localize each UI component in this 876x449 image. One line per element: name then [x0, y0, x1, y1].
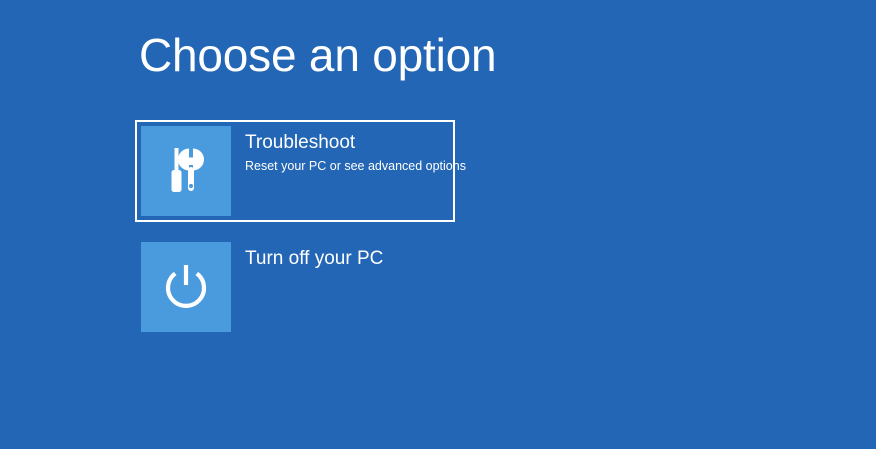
- option-turn-off-pc[interactable]: Turn off your PC: [135, 236, 455, 338]
- option-subtitle: Reset your PC or see advanced options: [245, 159, 449, 174]
- option-icon-tile: [141, 126, 231, 216]
- option-title: Turn off your PC: [245, 248, 449, 270]
- option-title: Troubleshoot: [245, 132, 449, 154]
- option-text-block: Turn off your PC: [231, 242, 449, 270]
- power-icon: [160, 261, 212, 313]
- option-text-block: Troubleshoot Reset your PC or see advanc…: [231, 126, 449, 174]
- screwdriver-wrench-icon: [164, 145, 208, 197]
- option-icon-tile: [141, 242, 231, 332]
- page-title: Choose an option: [139, 32, 496, 78]
- options-list: Troubleshoot Reset your PC or see advanc…: [135, 120, 465, 352]
- recovery-screen: Choose an option: [0, 0, 876, 449]
- option-troubleshoot[interactable]: Troubleshoot Reset your PC or see advanc…: [135, 120, 455, 222]
